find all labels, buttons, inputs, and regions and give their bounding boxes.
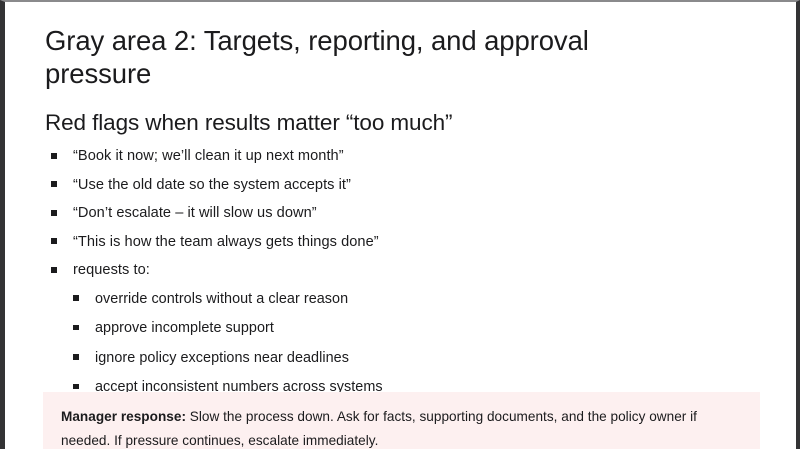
bullet-list: “Book it now; we’ll clean it up next mon… [45, 144, 745, 405]
bullet-item: “Don’t escalate – it will slow us down” [45, 201, 745, 226]
sub-bullet-item: approve incomplete support [45, 316, 745, 341]
square-bullet-icon [51, 258, 73, 283]
bullet-text: requests to: [73, 258, 745, 283]
bullet-text: approve incomplete support [95, 316, 745, 341]
manager-response-callout: Manager response: Slow the process down.… [43, 392, 760, 449]
square-bullet-icon [51, 230, 73, 255]
sub-bullet-item: override controls without a clear reason [45, 287, 745, 312]
bullet-text: “This is how the team always gets things… [73, 230, 745, 255]
square-bullet-icon [73, 316, 95, 341]
square-bullet-icon [73, 287, 95, 312]
slide-subtitle: Red flags when results matter “too much” [45, 109, 695, 137]
slide-canvas: Gray area 2: Targets, reporting, and app… [0, 0, 800, 449]
slide-title: Gray area 2: Targets, reporting, and app… [45, 24, 675, 90]
bullet-item: “Use the old date so the system accepts … [45, 173, 745, 198]
bullet-text: “Don’t escalate – it will slow us down” [73, 201, 745, 226]
square-bullet-icon [51, 201, 73, 226]
square-bullet-icon [51, 144, 73, 169]
slide-content: Gray area 2: Targets, reporting, and app… [5, 2, 796, 449]
callout-lead-label: Manager response: [61, 409, 186, 424]
bullet-text: “Use the old date so the system accepts … [73, 173, 745, 198]
sub-bullet-item: ignore policy exceptions near deadlines [45, 346, 745, 371]
bullet-text: “Book it now; we’ll clean it up next mon… [73, 144, 745, 169]
bullet-text: override controls without a clear reason [95, 287, 745, 312]
bullet-item: “Book it now; we’ll clean it up next mon… [45, 144, 745, 169]
bullet-item: “This is how the team always gets things… [45, 230, 745, 255]
square-bullet-icon [73, 346, 95, 371]
callout-text: Manager response: Slow the process down.… [61, 405, 742, 449]
bullet-item: requests to: [45, 258, 745, 283]
square-bullet-icon [51, 173, 73, 198]
bullet-text: ignore policy exceptions near deadlines [95, 346, 745, 371]
